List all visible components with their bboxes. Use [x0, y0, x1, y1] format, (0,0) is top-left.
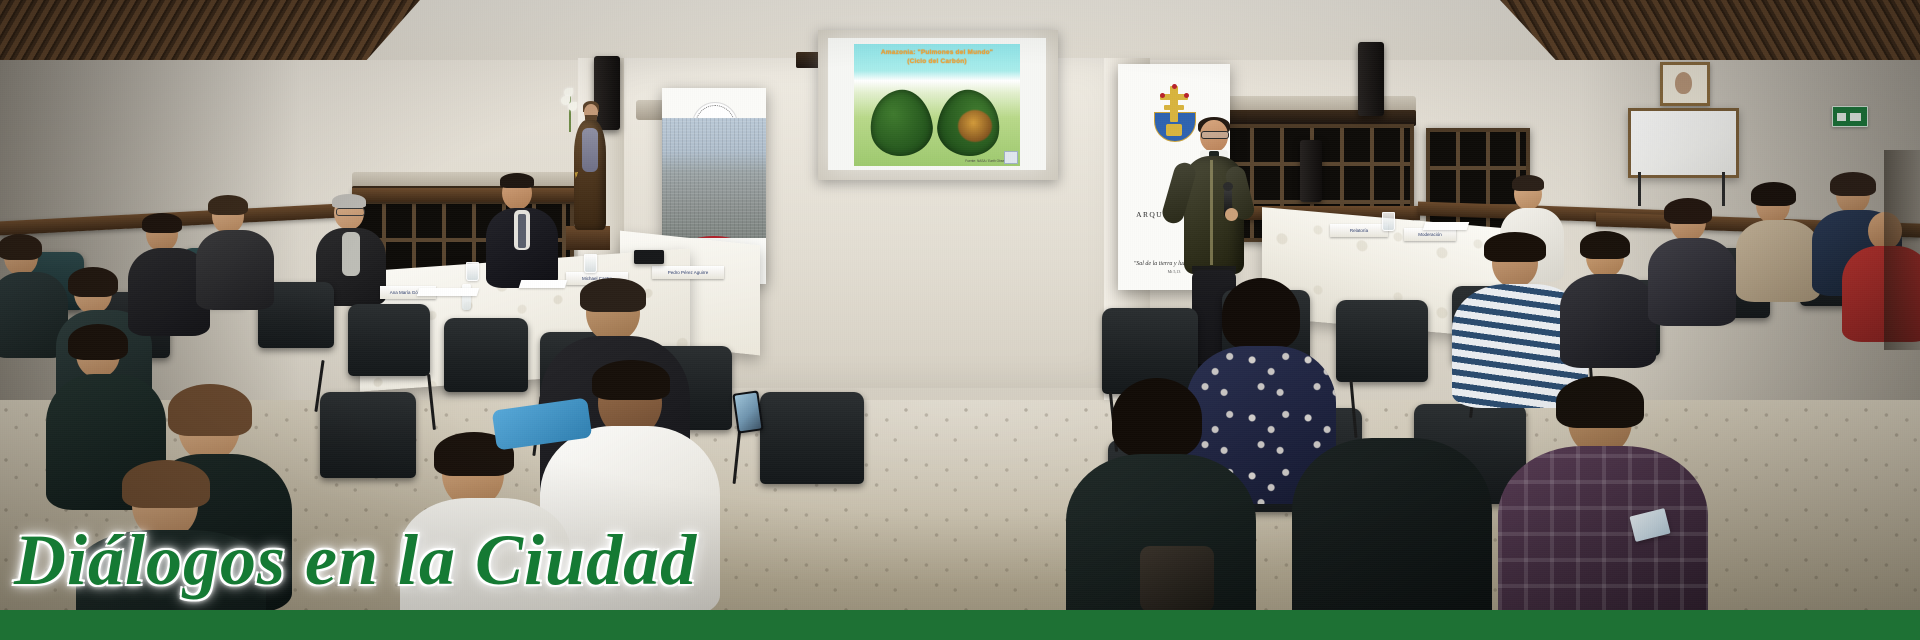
- slide-logo-icon: [1004, 151, 1018, 164]
- attendee-hair: [580, 278, 646, 312]
- attendee-right-3: [1736, 186, 1820, 302]
- attendee-torso: [1648, 238, 1736, 326]
- attendee-torso: [1736, 220, 1820, 302]
- lily-flower-3: [568, 102, 577, 111]
- cross-icon: [1170, 86, 1178, 122]
- smartphone-icon: [732, 390, 763, 433]
- attendee-right-2: [1648, 202, 1736, 326]
- attendee-right-1: [1560, 236, 1656, 368]
- slide-title-line1: Amazonia: "Pulmones del Mundo": [854, 48, 1020, 57]
- right-placard-1: Relatoría: [1330, 224, 1388, 237]
- screenshot-root: Amazonia: "Pulmones del Mundo" (Ciclo de…: [0, 0, 1920, 640]
- attendee-hair: [1830, 172, 1876, 196]
- framed-portrait: [1660, 62, 1710, 106]
- attendee-hair: [1484, 232, 1546, 262]
- exit-sign-icon: [1832, 106, 1868, 127]
- presenter-hand: [1225, 208, 1238, 221]
- documents-1: [417, 288, 480, 296]
- gem-icon-left: [1160, 93, 1165, 98]
- chair: [760, 392, 864, 484]
- water-glass-2: [584, 254, 597, 273]
- placard-2: Pedro Pérez Aguirre: [652, 266, 724, 279]
- forest-lung-left: [866, 86, 937, 160]
- chair: [1336, 300, 1428, 382]
- deforestation-patch: [958, 110, 992, 142]
- gem-icon-right: [1184, 93, 1189, 98]
- whiteboard: [1628, 108, 1739, 178]
- attendee-hair: [592, 360, 670, 400]
- attendee-left-4: [196, 198, 274, 310]
- water-glass-1: [466, 262, 479, 281]
- attendee-torso: [196, 230, 274, 310]
- presenter-jacket-zip: [1210, 160, 1213, 265]
- attendee-hair: [1556, 376, 1644, 428]
- slide-title-line2: (Ciclo del Carbón): [854, 57, 1020, 66]
- chair: [348, 304, 430, 376]
- lily-icon: [562, 86, 578, 130]
- attendee-hair: [208, 195, 248, 215]
- attendee-hair-long: [1222, 278, 1300, 350]
- wall-corner-shadow: [1884, 150, 1920, 350]
- whiteboard-leg-left: [1638, 172, 1641, 206]
- slide: Amazonia: "Pulmones del Mundo" (Ciclo de…: [854, 44, 1020, 166]
- attendee-hair: [0, 234, 42, 260]
- attendee-hair: [122, 460, 210, 508]
- water-glass-3: [1382, 212, 1395, 231]
- panelist-2-tie: [518, 214, 526, 248]
- whiteboard-leg-right: [1722, 172, 1725, 206]
- attendee-torso: [1560, 274, 1656, 368]
- panelist-2: [486, 176, 558, 288]
- bag: [1140, 546, 1214, 612]
- bottom-green-bar: [0, 610, 1920, 640]
- attendee-hair: [1580, 231, 1630, 259]
- attendee-hair: [142, 213, 182, 233]
- panelist-2-hair: [500, 173, 534, 188]
- attendee-hair-long: [1112, 378, 1202, 458]
- presenter-glasses: [1201, 131, 1229, 139]
- panelist-1-glasses: [336, 208, 365, 216]
- documents-3: [1423, 222, 1470, 230]
- attendee-hair: [168, 384, 252, 436]
- attendee-plaid-front: [1498, 386, 1708, 640]
- right-attendee-hair: [1512, 175, 1544, 191]
- projection-screen: Amazonia: "Pulmones del Mundo" (Ciclo de…: [828, 38, 1046, 170]
- laptop-1: [634, 250, 664, 264]
- statue-san-jose: [572, 84, 608, 230]
- attendee-hair: [1751, 182, 1796, 206]
- panelist-1-shirt: [342, 232, 360, 276]
- chair: [444, 318, 528, 392]
- attendee-hair: [68, 267, 118, 297]
- room-photo: Amazonia: "Pulmones del Mundo" (Ciclo de…: [0, 0, 1920, 640]
- panelist-1-hair: [332, 194, 366, 208]
- gem-icon-top: [1172, 84, 1177, 89]
- statue-tunic: [582, 128, 598, 172]
- pa-speaker-right-lower: [1300, 140, 1322, 202]
- banner-city-photo: [662, 118, 766, 238]
- attendee-hair: [68, 324, 128, 360]
- pa-speaker-right: [1358, 42, 1384, 116]
- attendee-hair: [1664, 198, 1712, 224]
